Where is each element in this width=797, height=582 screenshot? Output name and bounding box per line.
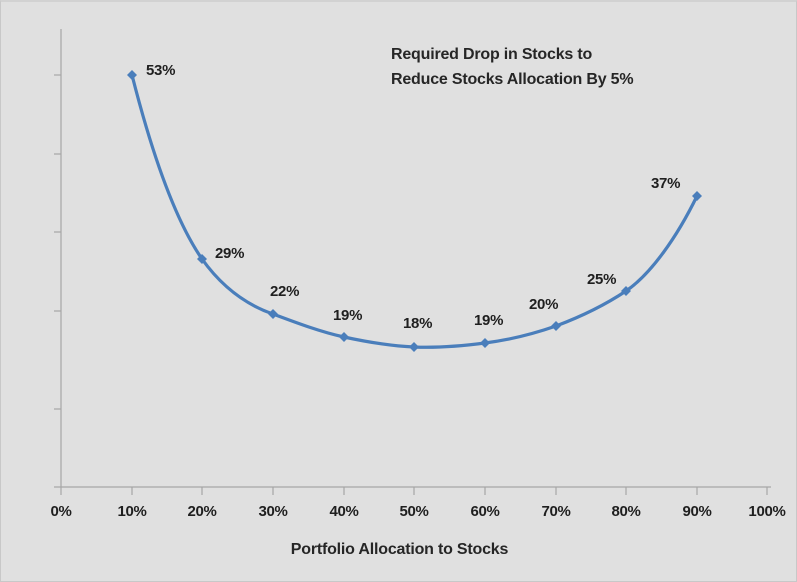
x-axis-title: Portfolio Allocation to Stocks (1, 541, 797, 559)
y-axis-ticks (54, 75, 61, 487)
data-point-markers (127, 70, 702, 352)
data-label-30: 22% (270, 283, 299, 300)
data-label-10: 53% (146, 62, 175, 79)
chart-axes (54, 29, 771, 495)
x-tick-label-20: 20% (187, 503, 216, 520)
x-tick-label-70: 70% (541, 503, 570, 520)
x-axis-ticks (61, 487, 767, 495)
chart-title-line-2: Reduce Stocks Allocation By 5% (391, 67, 633, 92)
x-tick-label-10: 10% (117, 503, 146, 520)
x-tick-label-100: 100% (748, 503, 785, 520)
x-tick-label-40: 40% (329, 503, 358, 520)
data-label-80: 25% (587, 271, 616, 288)
data-label-60: 19% (474, 312, 503, 329)
chart-container: Required Drop in Stocks to Reduce Stocks… (0, 0, 797, 582)
x-tick-label-30: 30% (258, 503, 287, 520)
data-series-line (132, 75, 697, 347)
chart-title-line-1: Required Drop in Stocks to (391, 42, 592, 67)
data-label-50: 18% (403, 315, 432, 332)
x-tick-label-80: 80% (611, 503, 640, 520)
data-label-70: 20% (529, 296, 558, 313)
data-label-40: 19% (333, 307, 362, 324)
x-tick-label-60: 60% (470, 503, 499, 520)
data-label-90: 37% (651, 175, 680, 192)
x-tick-label-50: 50% (399, 503, 428, 520)
x-tick-label-90: 90% (682, 503, 711, 520)
data-label-20: 29% (215, 245, 244, 262)
x-tick-label-0: 0% (50, 503, 71, 520)
